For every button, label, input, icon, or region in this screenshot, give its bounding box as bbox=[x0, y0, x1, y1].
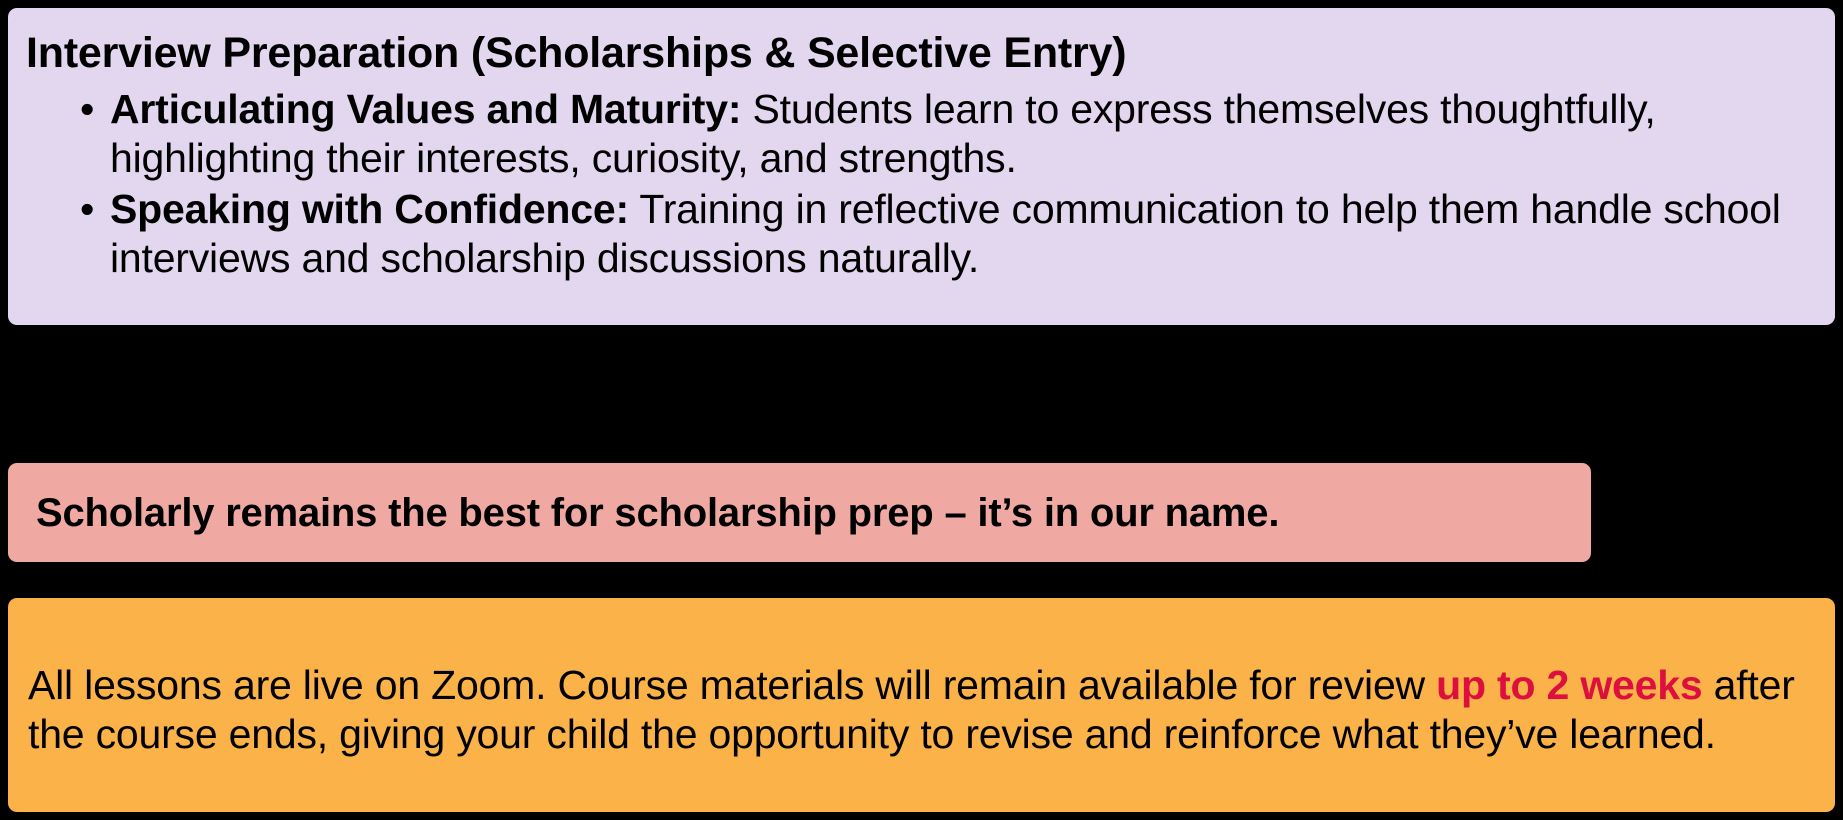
page-title: Interview Preparation (Scholarships & Se… bbox=[26, 28, 1809, 79]
list-item: • Articulating Values and Maturity: Stud… bbox=[22, 85, 1809, 183]
list-item: • Speaking with Confidence: Training in … bbox=[22, 185, 1809, 283]
zoom-delivery-note-card: All lessons are live on Zoom. Course mat… bbox=[8, 598, 1835, 812]
bullet-icon: • bbox=[80, 85, 94, 134]
scholarship-highlight-strip: Scholarly remains the best for scholarsh… bbox=[8, 463, 1591, 562]
note-text-before: All lessons are live on Zoom. Course mat… bbox=[28, 662, 1436, 708]
note-paragraph: All lessons are live on Zoom. Course mat… bbox=[28, 661, 1813, 759]
list-item-lead: Articulating Values and Maturity: bbox=[110, 86, 741, 132]
bullet-icon: • bbox=[80, 185, 94, 234]
highlight-strip-text: Scholarly remains the best for scholarsh… bbox=[36, 491, 1279, 535]
slide-canvas: Interview Preparation (Scholarships & Se… bbox=[0, 0, 1843, 820]
interview-preparation-card: Interview Preparation (Scholarships & Se… bbox=[8, 8, 1835, 325]
list-item-lead: Speaking with Confidence: bbox=[110, 186, 629, 232]
feature-bullet-list: • Articulating Values and Maturity: Stud… bbox=[22, 85, 1809, 284]
note-emphasis-duration: up to 2 weeks bbox=[1436, 662, 1702, 708]
